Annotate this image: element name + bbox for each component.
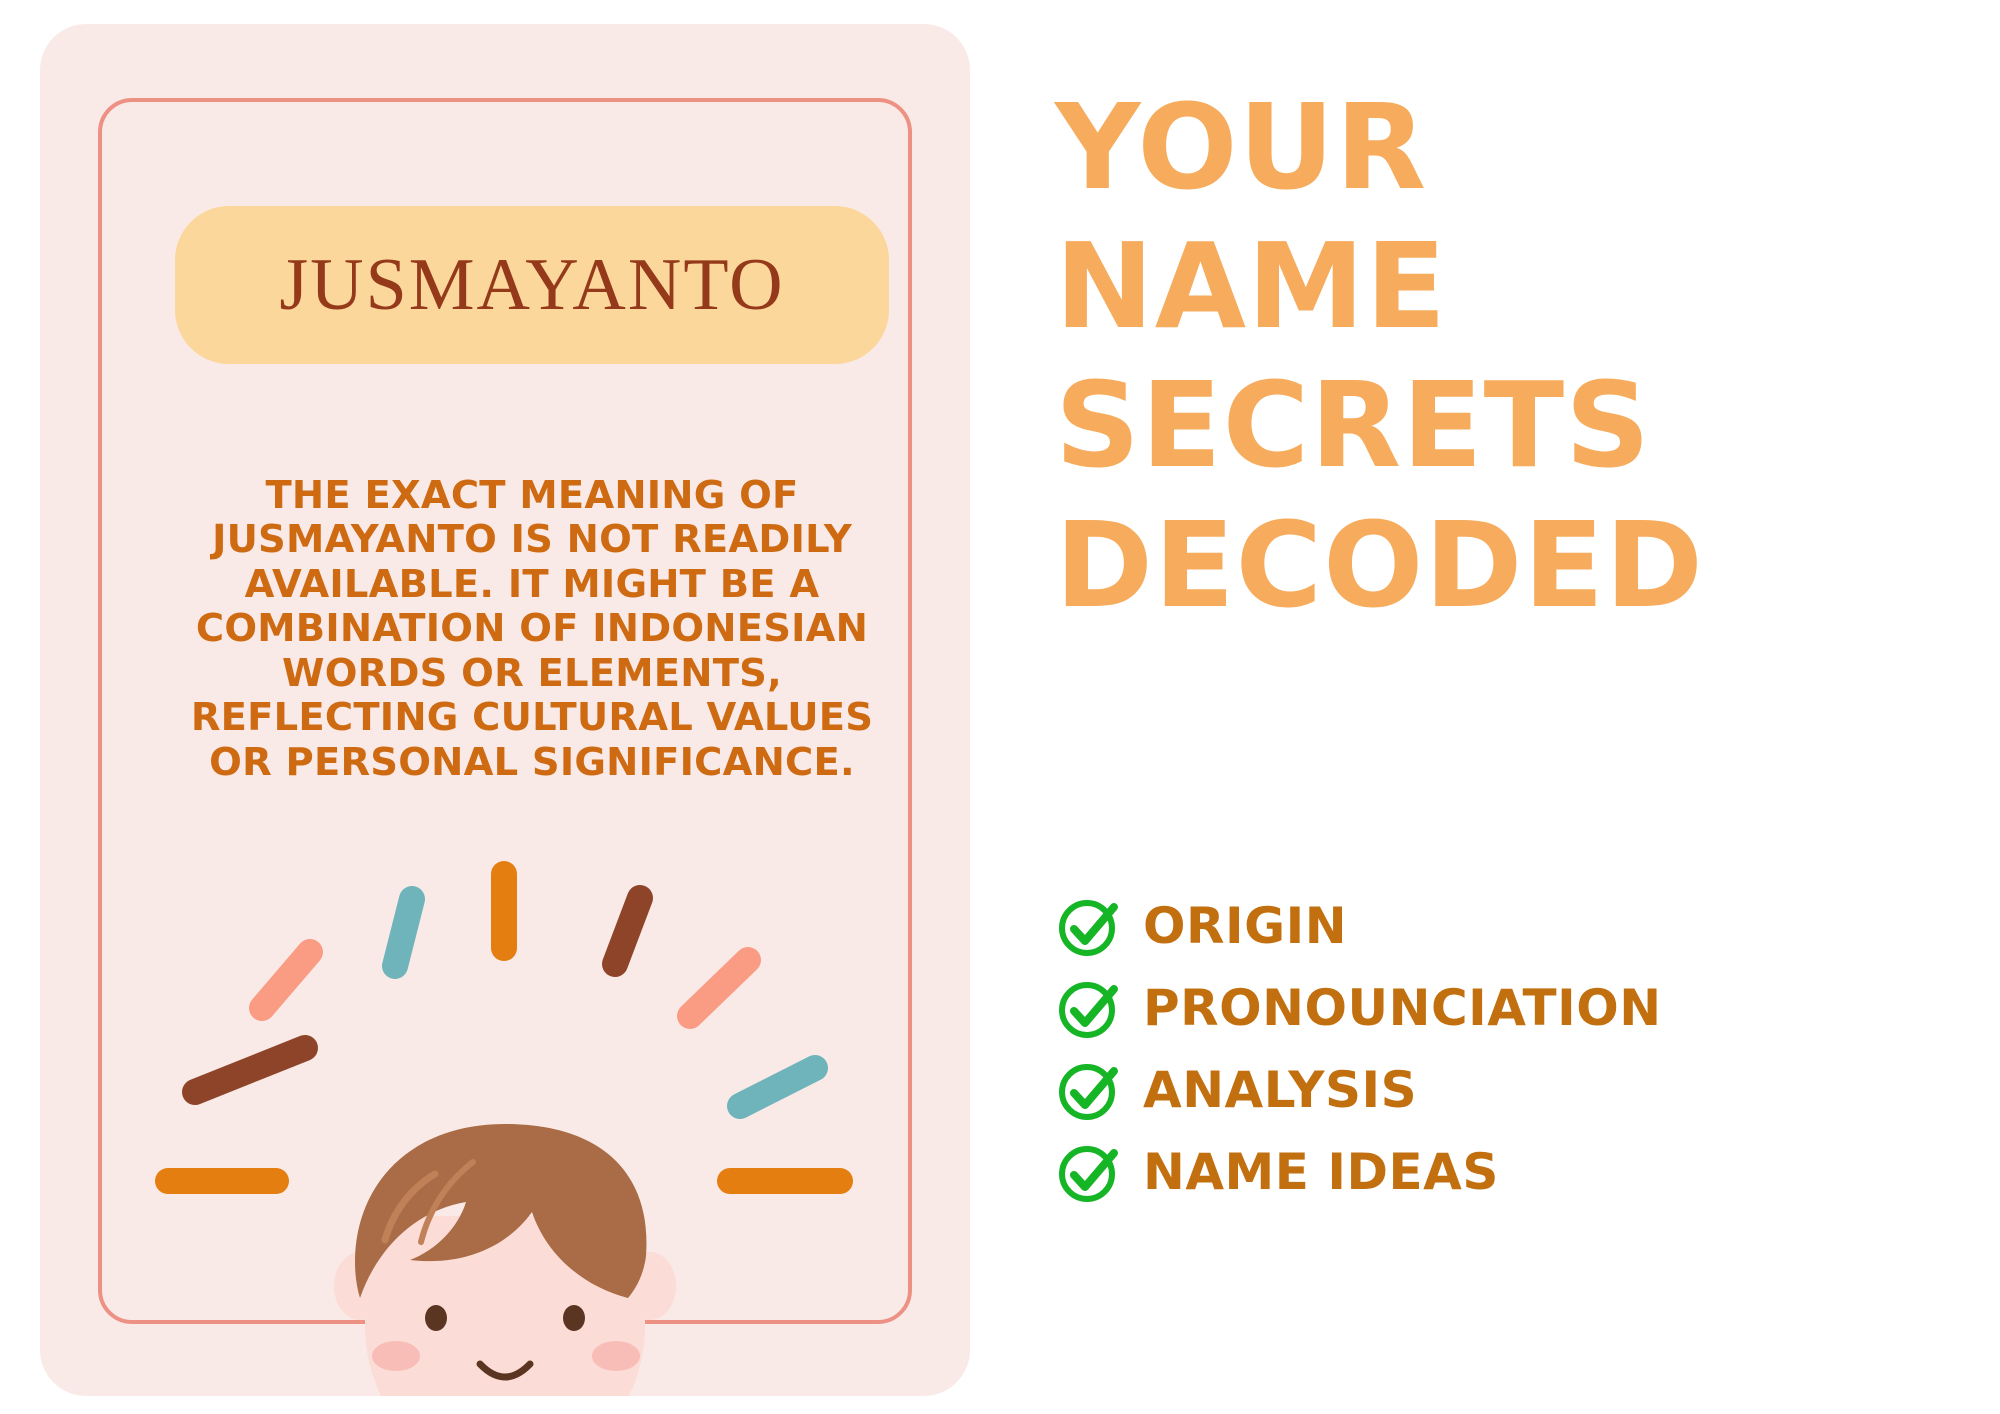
name-badge: JUSMAYANTO	[175, 206, 889, 364]
ray-left-far-brown	[195, 1048, 305, 1092]
blush-right	[592, 1341, 640, 1371]
check-circle-icon	[1057, 1058, 1121, 1122]
checklist-label: ORIGIN	[1143, 901, 1347, 951]
checklist-label: NAME IDEAS	[1143, 1147, 1499, 1197]
blush-left	[372, 1341, 420, 1371]
headline-line-1: YOUR	[1055, 78, 1935, 217]
name-meaning-text: The exact meaning of Jusmayanto is not r…	[190, 474, 874, 785]
poster-canvas: JUSMAYANTO The exact meaning of Jusmayan…	[0, 0, 2000, 1414]
ray-left-salmon	[262, 952, 310, 1008]
checklist-item-pronounciation[interactable]: PRONOUNCIATION	[1057, 967, 1937, 1049]
headline-line-2: NAME	[1055, 217, 1935, 356]
check-circle-icon	[1057, 976, 1121, 1040]
headline-block: YOUR NAME SECRETS DECODED	[1055, 78, 1935, 635]
checklist-label: PRONOUNCIATION	[1143, 983, 1662, 1033]
headline-line-3: SECRETS	[1055, 356, 1935, 495]
name-card: JUSMAYANTO The exact meaning of Jusmayan…	[40, 24, 970, 1396]
child-head	[334, 1124, 676, 1396]
ray-right-teal	[740, 1068, 815, 1106]
checklist-label: ANALYSIS	[1143, 1065, 1417, 1115]
eye-left	[425, 1305, 447, 1331]
ray-left-teal	[395, 899, 412, 966]
checklist-item-origin[interactable]: ORIGIN	[1057, 885, 1937, 967]
child-illustration	[40, 856, 970, 1396]
illustration-svg	[40, 856, 970, 1396]
feature-checklist: ORIGIN PRONOUNCIATION	[1057, 885, 1937, 1213]
checklist-item-name-ideas[interactable]: NAME IDEAS	[1057, 1131, 1937, 1213]
right-panel: YOUR NAME SECRETS DECODED ORIGIN	[1045, 0, 1945, 1414]
eye-right	[563, 1305, 585, 1331]
check-circle-icon	[1057, 894, 1121, 958]
check-circle-icon	[1057, 1140, 1121, 1204]
name-badge-label: JUSMAYANTO	[279, 248, 784, 322]
ray-right-salmon	[690, 960, 748, 1016]
checklist-item-analysis[interactable]: ANALYSIS	[1057, 1049, 1937, 1131]
headline-line-4: DECODED	[1055, 496, 1935, 635]
ray-right-brown	[615, 898, 640, 964]
